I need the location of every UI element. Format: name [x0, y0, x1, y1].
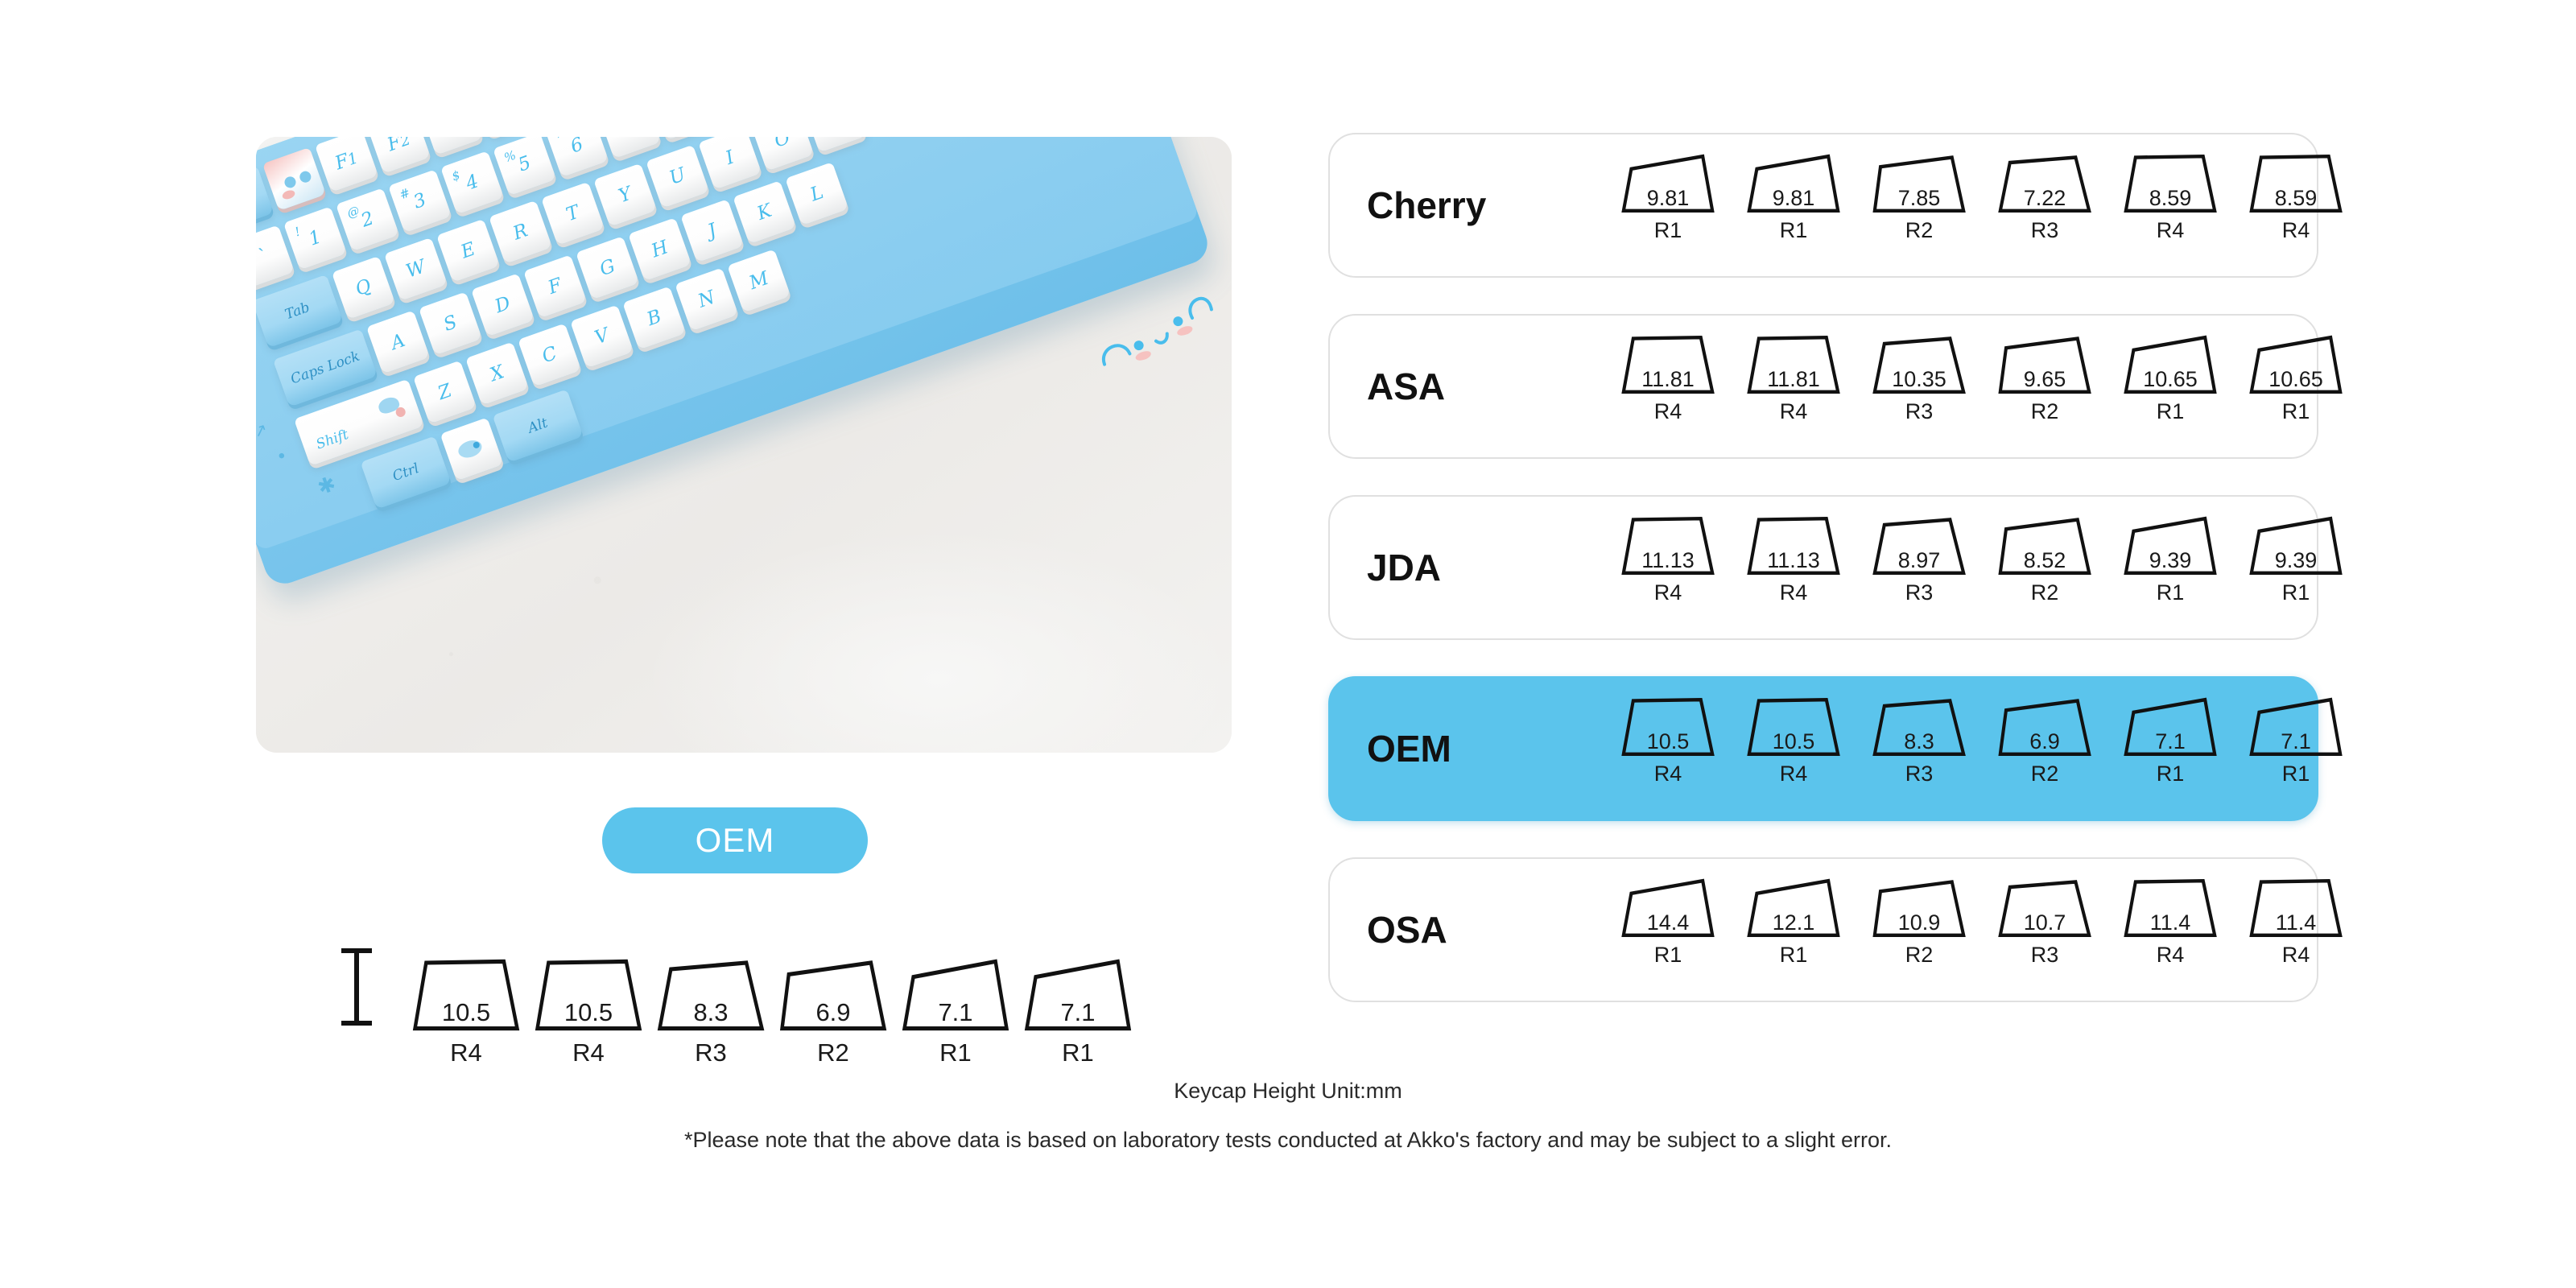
key-v: V: [570, 305, 634, 369]
key-l: L: [785, 162, 848, 225]
key-c: C: [518, 324, 581, 387]
keycap-silhouette: 7.22R3: [1996, 152, 2093, 249]
keycap-height-value: 10.5: [533, 998, 644, 1027]
keycap-height-value: 10.65: [2248, 367, 2344, 392]
keycap-row-label: R4: [1745, 580, 1842, 605]
key-6: ^6: [545, 137, 609, 177]
keycap-row-label: R1: [1745, 218, 1842, 243]
key-g: G: [576, 236, 639, 299]
key-m: M: [727, 249, 791, 312]
key-r: R: [489, 200, 552, 264]
key-3: #3: [388, 169, 452, 233]
keycap-silhouette: 10.65R1: [2248, 333, 2344, 430]
keycap-height-value: 7.1: [2248, 729, 2344, 754]
keycap-height-value: 11.81: [1745, 367, 1842, 392]
keycap-row-label: R1: [2248, 762, 2344, 786]
keycap-silhouette: 9.81R1: [1745, 152, 1842, 249]
keycap-height-value: 7.1: [900, 998, 1011, 1027]
keycap-row-label: R3: [1996, 943, 2093, 968]
keycap-silhouette: 8.59R4: [2122, 152, 2219, 249]
key-4: $4: [440, 151, 504, 214]
keycap-height-value: 8.52: [1996, 548, 2093, 573]
keycap-row-label: R4: [2122, 943, 2219, 968]
keycap-silhouette: 7.1R1: [2248, 696, 2344, 792]
profile-list: Cherry9.81R19.81R17.85R27.22R38.59R48.59…: [1328, 133, 2334, 1046]
keycap-silhouette: 7.85R2: [1871, 152, 1967, 249]
keycap-silhouette: 11.13R4: [1745, 514, 1842, 611]
keycap-silhouette: 9.39R1: [2248, 514, 2344, 611]
key-q: Q: [332, 256, 395, 320]
keycap-silhouette: 10.7R3: [1996, 877, 2093, 973]
keycap-row-label: R1: [1022, 1038, 1133, 1067]
selected-profile-label: OEM: [696, 821, 775, 860]
keycap-row-label: R2: [1871, 943, 1967, 968]
keycap-height-value: 10.35: [1871, 367, 1967, 392]
profile-card-oem[interactable]: OEM10.5R410.5R48.3R36.9R27.1R17.1R1: [1328, 676, 2318, 821]
key-j: J: [680, 199, 744, 262]
keycap-row-label: R2: [778, 1038, 889, 1067]
keycap-height-value: 11.4: [2122, 910, 2219, 935]
keycap-row-label: R4: [1620, 580, 1716, 605]
keycap-height-value: 6.9: [778, 998, 889, 1027]
profile-name-label: ASA: [1367, 316, 1568, 457]
left-panel: ✱ ✦ ↗ ● ✱ ✦ Esc F1 F: [256, 137, 1234, 1046]
keycap-height-value: 8.97: [1871, 548, 1967, 573]
keycap-height-value: 9.39: [2248, 548, 2344, 573]
keycap-silhouette: 14.4R1: [1620, 877, 1716, 973]
profile-keycap-strip: 11.13R411.13R48.97R38.52R29.39R19.39R1: [1555, 497, 2312, 638]
keycap-height-value: 7.1: [1022, 998, 1133, 1027]
keycap-row-label: R3: [1871, 762, 1967, 786]
keycap-height-value: 7.85: [1871, 186, 1967, 211]
key-n: N: [675, 267, 738, 331]
keycap-row-label: R1: [2122, 580, 2219, 605]
keycap-height-value: 9.65: [1996, 367, 2093, 392]
keycap-height-value: 10.7: [1996, 910, 2093, 935]
profile-card-jda[interactable]: JDA11.13R411.13R48.97R38.52R29.39R19.39R…: [1328, 495, 2318, 640]
profile-card-osa[interactable]: OSA14.4R112.1R110.9R210.7R311.4R411.4R4: [1328, 857, 2318, 1002]
keycap-row-label: R1: [900, 1038, 1011, 1067]
key-d: D: [471, 273, 535, 336]
key-t: T: [541, 182, 605, 246]
keycap-silhouette: 11.4R4: [2122, 877, 2219, 973]
keycap-row-label: R3: [1871, 580, 1967, 605]
keycap-silhouette: 7.1R1: [900, 956, 1011, 1071]
keycap-silhouette: 8.97R3: [1871, 514, 1967, 611]
keycap-row-label: R3: [1871, 399, 1967, 424]
keycap-row-label: R3: [655, 1038, 766, 1067]
keycap-silhouette: 9.39R1: [2122, 514, 2219, 611]
keycap-silhouette: 11.13R4: [1620, 514, 1716, 611]
keycap-silhouette: 9.65R2: [1996, 333, 2093, 430]
keycap-silhouette: 11.81R4: [1620, 333, 1716, 430]
disclaimer-note: *Please note that the above data is base…: [0, 1128, 2576, 1153]
keycap-height-value: 10.65: [2122, 367, 2219, 392]
keycap-silhouette: 11.81R4: [1745, 333, 1842, 430]
keycap-height-value: 11.81: [1620, 367, 1716, 392]
keycap-row-label: R3: [1996, 218, 2093, 243]
keycap-height-value: 8.59: [2122, 186, 2219, 211]
keycap-silhouette: 11.4R4: [2248, 877, 2344, 973]
keycap-height-value: 6.9: [1996, 729, 2093, 754]
keycap-row-label: R2: [1871, 218, 1967, 243]
selected-profile-keycap-row: 10.5R410.5R48.3R36.9R27.1R17.1R1: [336, 942, 1222, 1046]
keycap-height-value: 10.9: [1871, 910, 1967, 935]
footer: Keycap Height Unit:mm *Please note that …: [0, 1079, 2576, 1153]
keycap-row-label: R4: [2248, 218, 2344, 243]
keyboard-product-photo: ✱ ✦ ↗ ● ✱ ✦ Esc F1 F: [256, 137, 1232, 753]
key-y: Y: [593, 163, 657, 227]
keycap-row-label: R4: [1745, 762, 1842, 786]
keycap-height-value: 9.81: [1620, 186, 1716, 211]
key-a: A: [366, 310, 430, 374]
profile-keycap-strip: 9.81R19.81R17.85R27.22R38.59R48.59R4: [1555, 134, 2312, 276]
key-5: %5: [493, 137, 556, 196]
profile-name-label: Cherry: [1367, 134, 1568, 276]
selected-profile-badge[interactable]: OEM: [602, 807, 868, 873]
keycap-silhouette: 9.81R1: [1620, 152, 1716, 249]
keycap-silhouette: 8.52R2: [1996, 514, 2093, 611]
key-s: S: [419, 291, 482, 355]
key-f1: F1: [315, 137, 378, 192]
profile-keycap-strip: 11.81R411.81R410.35R39.65R210.65R110.65R…: [1555, 316, 2312, 457]
keycap-height-value: 8.3: [655, 998, 766, 1027]
keycap-row-label: R4: [533, 1038, 644, 1067]
keycap-silhouette: 8.59R4: [2248, 152, 2344, 249]
keycap-height-value: 9.39: [2122, 548, 2219, 573]
key-w: W: [384, 237, 448, 301]
key-f2: F2: [367, 137, 431, 174]
key-i: I: [698, 137, 762, 190]
keycap-row-label: R4: [1620, 399, 1716, 424]
keycap-silhouette: 10.5R4: [411, 956, 522, 1071]
keycap-height-value: 8.3: [1871, 729, 1967, 754]
keycap-silhouette: 10.5R4: [1620, 696, 1716, 792]
key-2: @2: [336, 188, 399, 251]
keycap-profile-comparison-page: ✱ ✦ ↗ ● ✱ ✦ Esc F1 F: [0, 0, 2576, 1288]
keycap-silhouette: 7.1R1: [2122, 696, 2219, 792]
key-x: X: [465, 342, 529, 406]
keycap-height-value: 11.13: [1745, 548, 1842, 573]
keycap-height-value: 7.1: [2122, 729, 2219, 754]
keycap-silhouette: 7.1R1: [1022, 956, 1133, 1071]
keycap-row-label: R2: [1996, 399, 2093, 424]
keycap-row-label: R2: [1996, 580, 2093, 605]
profile-name-label: OEM: [1367, 678, 1568, 819]
keycap-silhouette: 10.5R4: [533, 956, 644, 1071]
key-k: K: [733, 180, 796, 244]
keycap-silhouette: 12.1R1: [1745, 877, 1842, 973]
key-f: F: [523, 254, 587, 318]
profile-card-asa[interactable]: ASA11.81R411.81R410.35R39.65R210.65R110.…: [1328, 314, 2318, 459]
key-1: !1: [283, 206, 347, 270]
keycap-height-value: 12.1: [1745, 910, 1842, 935]
key-u: U: [646, 145, 709, 208]
keycap-row-label: R4: [2122, 218, 2219, 243]
keycap-height-value: 11.4: [2248, 910, 2344, 935]
keycap-row-label: R1: [2248, 580, 2344, 605]
unit-note: Keycap Height Unit:mm: [0, 1079, 2576, 1104]
profile-card-cherry[interactable]: Cherry9.81R19.81R17.85R27.22R38.59R48.59…: [1328, 133, 2318, 278]
key-h: H: [628, 217, 691, 281]
keycap-silhouette: 10.35R3: [1871, 333, 1967, 430]
profile-keycap-strip: 10.5R410.5R48.3R36.9R27.1R17.1R1: [1555, 678, 2312, 819]
keycap-height-value: 10.5: [1620, 729, 1716, 754]
keycap-row-label: R4: [1620, 762, 1716, 786]
keycap-silhouette: 10.9R2: [1871, 877, 1967, 973]
keycap-row-label: R1: [1620, 943, 1716, 968]
keycap-height-value: 10.5: [1745, 729, 1842, 754]
profile-keycap-strip: 14.4R112.1R110.9R210.7R311.4R411.4R4: [1555, 859, 2312, 1001]
keycap-silhouette: 6.9R2: [778, 956, 889, 1071]
keycap-height-value: 14.4: [1620, 910, 1716, 935]
height-measure-ibeam-icon: [336, 947, 377, 1027]
profile-name-label: JDA: [1367, 497, 1568, 638]
keycap-silhouette: 8.3R3: [655, 956, 766, 1071]
keycap-height-value: 10.5: [411, 998, 522, 1027]
keycap-height-value: 7.22: [1996, 186, 2093, 211]
keycap-silhouette: 10.65R1: [2122, 333, 2219, 430]
keycap-row-label: R1: [2122, 762, 2219, 786]
keycap-row-label: R4: [411, 1038, 522, 1067]
profile-name-label: OSA: [1367, 859, 1568, 1001]
keycap-row-label: R1: [2248, 399, 2344, 424]
keycap-silhouette: 6.9R2: [1996, 696, 2093, 792]
keycap-height-value: 9.81: [1745, 186, 1842, 211]
key-b: B: [622, 287, 686, 350]
keycap-row-label: R1: [2122, 399, 2219, 424]
keycap-row-label: R1: [1620, 218, 1716, 243]
key-o: O: [750, 137, 814, 171]
keycap-height-value: 8.59: [2248, 186, 2344, 211]
keycap-row-label: R1: [1745, 943, 1842, 968]
keycap-row-label: R4: [2248, 943, 2344, 968]
keycap-silhouette: 8.3R3: [1871, 696, 1967, 792]
key-tab: Tab: [256, 275, 343, 348]
keycap-height-value: 11.13: [1620, 548, 1716, 573]
keycap-silhouette: 10.5R4: [1745, 696, 1842, 792]
keycap-row-label: R4: [1745, 399, 1842, 424]
key-e: E: [436, 219, 500, 283]
key-z: Z: [413, 361, 477, 424]
keycap-row-label: R2: [1996, 762, 2093, 786]
